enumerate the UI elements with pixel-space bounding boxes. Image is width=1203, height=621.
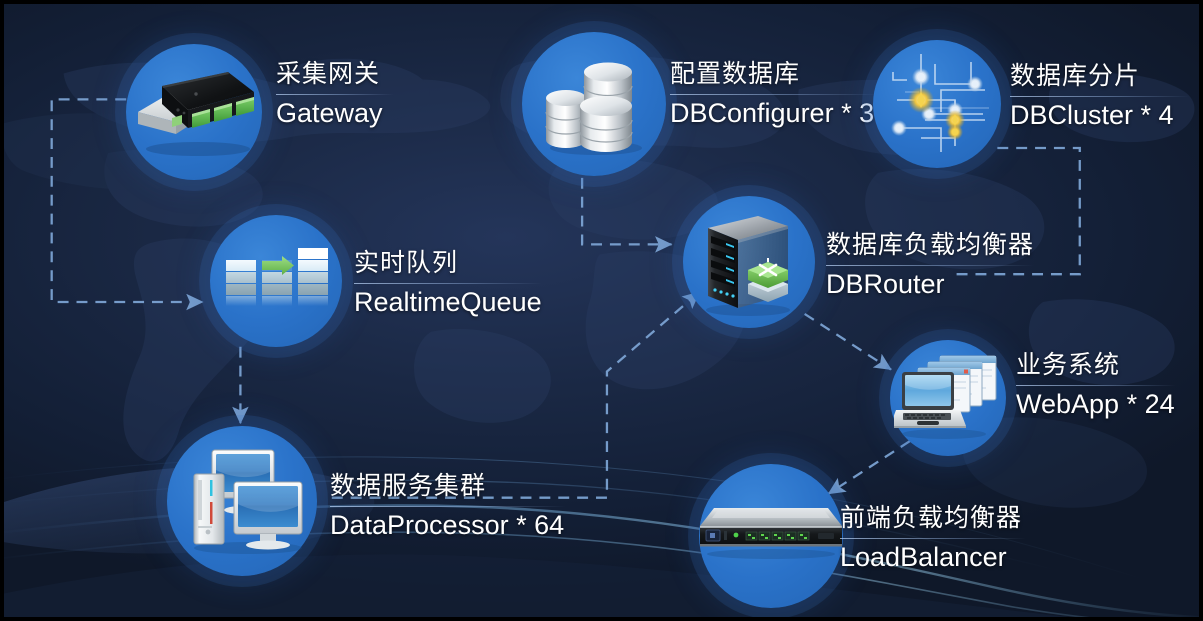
link-webapp-to-loadbalancer bbox=[828, 441, 909, 494]
dbcluster-label: 数据库分片 DBCluster * 4 bbox=[1010, 62, 1190, 131]
dataprocessor-label: 数据服务集群 DataProcessor * 64 bbox=[330, 472, 566, 541]
dbcluster-label-en: DBCluster * 4 bbox=[1010, 100, 1190, 131]
webapp-label-rule bbox=[1016, 385, 1176, 386]
dbconfigurer-label-en: DBConfigurer * 3 bbox=[670, 98, 880, 129]
dbconfigurer-label-cn: 配置数据库 bbox=[670, 60, 880, 89]
dbcluster-label-rule bbox=[1010, 96, 1190, 97]
realtimequeue-label-cn: 实时队列 bbox=[354, 249, 542, 278]
dbrouter-label: 数据库负载均衡器 DBRouter bbox=[826, 231, 1034, 300]
gateway-label: 采集网关 Gateway bbox=[276, 60, 394, 129]
gateway-device-icon bbox=[132, 66, 258, 158]
dbrouter-label-cn: 数据库负载均衡器 bbox=[826, 231, 1034, 260]
dataprocessor-label-cn: 数据服务集群 bbox=[330, 472, 566, 501]
database-stack-icon bbox=[540, 52, 646, 156]
dbrouter-label-rule bbox=[826, 265, 1034, 266]
gateway-label-cn: 采集网关 bbox=[276, 60, 394, 89]
server-router-icon bbox=[696, 210, 802, 318]
link-dataprocessor-to-dbrouter bbox=[332, 292, 700, 498]
dataprocessor-label-rule bbox=[330, 506, 566, 507]
loadbalancer-label: 前端负载均衡器 LoadBalancer bbox=[840, 504, 1026, 573]
link-dbrouter-to-webapp bbox=[805, 314, 891, 370]
webapp-label-cn: 业务系统 bbox=[1016, 351, 1176, 380]
gateway-label-en: Gateway bbox=[276, 98, 394, 129]
queue-bars-icon bbox=[224, 244, 332, 326]
dataprocessor-label-en: DataProcessor * 64 bbox=[330, 510, 566, 541]
loadbalancer-label-rule bbox=[840, 538, 1026, 539]
network-shard-icon bbox=[885, 50, 991, 156]
dbconfigurer-label-rule bbox=[670, 94, 880, 95]
gateway-label-rule bbox=[276, 94, 394, 95]
webapp-label: 业务系统 WebApp * 24 bbox=[1016, 351, 1176, 420]
dbconfigurer-label: 配置数据库 DBConfigurer * 3 bbox=[670, 60, 880, 129]
rack-appliance-icon bbox=[692, 504, 850, 560]
pc-monitors-icon bbox=[186, 444, 306, 556]
laptop-windows-icon bbox=[894, 352, 1000, 440]
loadbalancer-label-cn: 前端负载均衡器 bbox=[840, 504, 1026, 533]
link-dbconfigurer-to-dbrouter bbox=[582, 178, 671, 245]
dbrouter-label-en: DBRouter bbox=[826, 269, 1034, 300]
realtimequeue-label-en: RealtimeQueue bbox=[354, 287, 542, 318]
realtimequeue-label-rule bbox=[354, 283, 542, 284]
dbcluster-label-cn: 数据库分片 bbox=[1010, 62, 1190, 91]
webapp-label-en: WebApp * 24 bbox=[1016, 389, 1176, 420]
architecture-diagram: 采集网关 Gateway bbox=[0, 0, 1203, 621]
loadbalancer-label-en: LoadBalancer bbox=[840, 542, 1026, 573]
realtimequeue-label: 实时队列 RealtimeQueue bbox=[354, 249, 542, 318]
